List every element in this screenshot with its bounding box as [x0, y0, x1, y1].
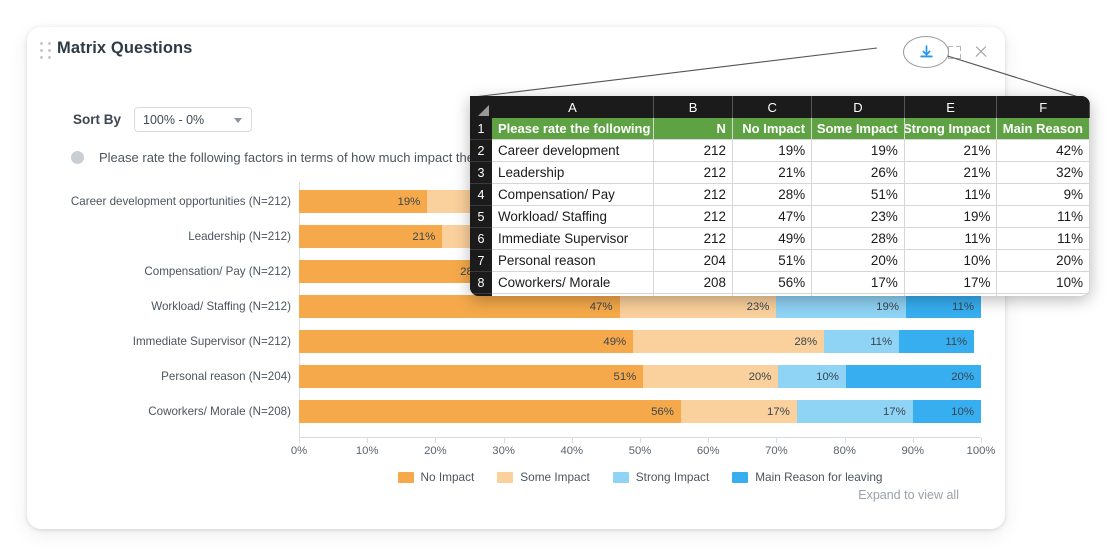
bar-row[interactable]: 51%20%10%20% — [299, 365, 981, 388]
x-tick — [504, 438, 505, 443]
spreadsheet-cell[interactable]: Leadership — [492, 162, 654, 183]
row-number[interactable]: 9 — [470, 294, 492, 296]
table-row[interactable]: Career development21219%19%21%42% — [492, 140, 1090, 162]
spreadsheet-cell[interactable]: Main Reason — [997, 118, 1090, 139]
spreadsheet-cell[interactable] — [905, 294, 998, 296]
spreadsheet-cell[interactable]: 49% — [733, 228, 812, 249]
spreadsheet-cell[interactable]: 10% — [997, 272, 1090, 293]
spreadsheet-cell[interactable] — [997, 294, 1090, 296]
table-row[interactable]: Compensation/ Pay21228%51%11%9% — [492, 184, 1090, 206]
bar-segment: 23% — [620, 295, 777, 318]
category-label: Career development opportunities (N=212) — [27, 190, 299, 213]
table-row[interactable] — [492, 294, 1090, 296]
spreadsheet-cell[interactable]: 208 — [654, 272, 733, 293]
bar-segment: 17% — [797, 400, 913, 423]
x-tick-label: 20% — [424, 445, 447, 457]
chevron-down-icon — [234, 118, 242, 123]
spreadsheet-cell[interactable]: 204 — [654, 250, 733, 271]
spreadsheet-cell[interactable]: 17% — [905, 272, 998, 293]
spreadsheet-grid: Please rate the followingNNo ImpactSome … — [492, 118, 1090, 296]
x-tick-label: 50% — [629, 445, 652, 457]
spreadsheet-cell[interactable]: 51% — [812, 184, 905, 205]
spreadsheet-cell[interactable]: 21% — [905, 162, 998, 183]
legend-item[interactable]: Strong Impact — [613, 470, 709, 484]
spreadsheet-cell[interactable]: Workload/ Staffing — [492, 206, 654, 227]
page-title: Matrix Questions — [57, 39, 192, 58]
spreadsheet-cell[interactable]: 212 — [654, 228, 733, 249]
expand-to-view-all-link[interactable]: Expand to view all — [858, 488, 959, 502]
bar-row[interactable]: 47%23%19%11% — [299, 295, 981, 318]
column-header[interactable]: B — [654, 96, 733, 118]
x-tick — [435, 438, 436, 443]
spreadsheet-cell[interactable]: 212 — [654, 162, 733, 183]
chart-legend: No ImpactSome ImpactStrong ImpactMain Re… — [299, 470, 981, 484]
x-tick-label: 100% — [967, 445, 996, 457]
x-tick-label: 30% — [492, 445, 515, 457]
spreadsheet-cell[interactable]: 11% — [997, 206, 1090, 227]
spreadsheet-cell[interactable]: 21% — [733, 162, 812, 183]
spreadsheet-cell[interactable]: 19% — [812, 140, 905, 161]
spreadsheet-cell[interactable]: No Impact — [733, 118, 812, 139]
category-label: Coworkers/ Morale (N=208) — [27, 400, 299, 423]
spreadsheet-cell[interactable] — [733, 294, 812, 296]
download-icon — [918, 44, 935, 61]
spreadsheet-cell[interactable]: 9% — [997, 184, 1090, 205]
spreadsheet-cell[interactable]: 11% — [905, 184, 998, 205]
bar-row[interactable]: 49%28%11%11% — [299, 330, 981, 353]
x-tick-label: 70% — [765, 445, 788, 457]
close-icon[interactable] — [973, 44, 989, 60]
spreadsheet-cell[interactable]: 212 — [654, 184, 733, 205]
spreadsheet-cell[interactable]: Personal reason — [492, 250, 654, 271]
category-label: Immediate Supervisor (N=212) — [27, 330, 299, 353]
bar-segment: 56% — [299, 400, 681, 423]
spreadsheet-cell[interactable]: 32% — [997, 162, 1090, 183]
spreadsheet-cell[interactable]: 56% — [733, 272, 812, 293]
spreadsheet-cell[interactable]: 26% — [812, 162, 905, 183]
x-tick — [572, 438, 573, 443]
spreadsheet-cell[interactable]: Please rate the following — [492, 118, 654, 139]
x-axis-ticks: 0%10%20%30%40%50%60%70%80%90%100% — [299, 438, 981, 460]
row-number[interactable]: 3 — [470, 162, 492, 184]
bar-segment: 10% — [778, 365, 846, 388]
card-controls — [948, 40, 989, 64]
x-tick — [367, 438, 368, 443]
bar-segment: 19% — [299, 190, 427, 213]
spreadsheet-cell[interactable]: Career development — [492, 140, 654, 161]
row-number[interactable]: 1 — [470, 118, 492, 140]
bar-segment: 47% — [299, 295, 620, 318]
select-all-corner-icon[interactable] — [470, 96, 492, 118]
table-row[interactable]: Coworkers/ Morale20856%17%17%10% — [492, 272, 1090, 294]
spreadsheet-cell[interactable]: 51% — [733, 250, 812, 271]
bar-segment: 20% — [846, 365, 981, 388]
legend-item[interactable]: No Impact — [398, 470, 475, 484]
spreadsheet-cell[interactable]: 47% — [733, 206, 812, 227]
sort-control: Sort By 100% - 0% — [73, 107, 252, 132]
bar-row[interactable]: 56%17%17%10% — [299, 400, 981, 423]
table-row[interactable]: Immediate Supervisor21249%28%11%11% — [492, 228, 1090, 250]
bar-segment: 11% — [899, 330, 974, 353]
spreadsheet-cell[interactable]: N — [654, 118, 733, 139]
bar-segment: 11% — [824, 330, 899, 353]
category-label: Personal reason (N=204) — [27, 365, 299, 388]
x-tick — [845, 438, 846, 443]
legend-item[interactable]: Main Reason for leaving — [732, 470, 882, 484]
bar-segment: 19% — [776, 295, 906, 318]
bar-segment: 51% — [299, 365, 643, 388]
x-tick — [640, 438, 641, 443]
category-label: Compensation/ Pay (N=212) — [27, 260, 299, 283]
column-header[interactable]: C — [733, 96, 812, 118]
spreadsheet-cell[interactable]: 23% — [812, 206, 905, 227]
bar-segment: 20% — [643, 365, 778, 388]
row-number[interactable]: 5 — [470, 206, 492, 228]
screenshot-root: Matrix Questions Sort By 100% - 0% — [0, 0, 1120, 556]
spreadsheet-overlay[interactable]: ABCDEF 123456789 Please rate the followi… — [470, 96, 1090, 296]
column-header[interactable]: A — [492, 96, 654, 118]
spreadsheet-cell[interactable]: Coworkers/ Morale — [492, 272, 654, 293]
spreadsheet-cell[interactable]: Immediate Supervisor — [492, 228, 654, 249]
spreadsheet-cell[interactable]: 19% — [905, 206, 998, 227]
spreadsheet-cell[interactable]: 20% — [812, 250, 905, 271]
x-tick — [299, 438, 300, 443]
spreadsheet-cell[interactable]: 17% — [812, 272, 905, 293]
spreadsheet-cell[interactable]: 212 — [654, 206, 733, 227]
bar-segment: 49% — [299, 330, 633, 353]
spreadsheet-cell[interactable]: Strong Impact — [905, 118, 998, 139]
spreadsheet-cell[interactable]: 19% — [733, 140, 812, 161]
x-tick-label: 10% — [356, 445, 379, 457]
table-row[interactable]: Leadership21221%26%21%32% — [492, 162, 1090, 184]
expand-icon[interactable] — [948, 46, 961, 59]
spreadsheet-cell[interactable] — [812, 294, 905, 296]
spreadsheet-header-row[interactable]: Please rate the followingNNo ImpactSome … — [492, 118, 1090, 140]
row-number[interactable]: 6 — [470, 228, 492, 250]
bullet-dot-icon — [71, 151, 84, 164]
legend-swatch — [732, 472, 748, 483]
spreadsheet-cell[interactable]: 11% — [997, 228, 1090, 249]
x-tick-label: 90% — [901, 445, 924, 457]
bar-segment: 17% — [681, 400, 797, 423]
row-number[interactable]: 2 — [470, 140, 492, 162]
spreadsheet-cell[interactable]: 10% — [905, 250, 998, 271]
spreadsheet-cell[interactable]: 28% — [812, 228, 905, 249]
table-row[interactable]: Workload/ Staffing21247%23%19%11% — [492, 206, 1090, 228]
spreadsheet-row-numbers: 123456789 — [470, 118, 492, 296]
spreadsheet-cell[interactable]: 42% — [997, 140, 1090, 161]
legend-label: Strong Impact — [636, 470, 709, 484]
bar-segment: 28% — [633, 330, 824, 353]
row-number[interactable]: 7 — [470, 250, 492, 272]
column-header[interactable]: E — [905, 96, 998, 118]
legend-label: Main Reason for leaving — [755, 470, 882, 484]
category-label: Leadership (N=212) — [27, 225, 299, 248]
table-row[interactable]: Personal reason20451%20%10%20% — [492, 250, 1090, 272]
row-number[interactable]: 4 — [470, 184, 492, 206]
legend-swatch — [613, 472, 629, 483]
spreadsheet-cell[interactable]: Some Impact — [812, 118, 905, 139]
legend-item[interactable]: Some Impact — [497, 470, 590, 484]
spreadsheet-cell[interactable] — [654, 294, 733, 296]
spreadsheet-column-headers: ABCDEF — [470, 96, 1090, 118]
spreadsheet-cell[interactable]: Compensation/ Pay — [492, 184, 654, 205]
sort-by-value: 100% - 0% — [143, 113, 204, 127]
spreadsheet-cell[interactable]: 21% — [905, 140, 998, 161]
x-tick — [913, 438, 914, 443]
legend-swatch — [497, 472, 513, 483]
spreadsheet-cell[interactable]: 212 — [654, 140, 733, 161]
spreadsheet-cell[interactable]: 11% — [905, 228, 998, 249]
x-tick — [708, 438, 709, 443]
sort-by-label: Sort By — [73, 112, 121, 127]
column-header[interactable]: D — [812, 96, 905, 118]
spreadsheet-cell[interactable] — [492, 294, 654, 296]
sort-by-select[interactable]: 100% - 0% — [134, 107, 252, 132]
x-tick — [981, 438, 982, 443]
spreadsheet-cell[interactable]: 20% — [997, 250, 1090, 271]
spreadsheet-cell[interactable]: 28% — [733, 184, 812, 205]
bar-segment: 11% — [906, 295, 981, 318]
legend-label: Some Impact — [520, 470, 590, 484]
download-button[interactable] — [903, 36, 949, 68]
legend-swatch — [398, 472, 414, 483]
x-tick-label: 0% — [291, 445, 307, 457]
bar-segment: 10% — [913, 400, 981, 423]
category-label: Workload/ Staffing (N=212) — [27, 295, 299, 318]
x-tick — [776, 438, 777, 443]
x-tick-label: 80% — [833, 445, 856, 457]
legend-label: No Impact — [421, 470, 475, 484]
x-tick-label: 60% — [697, 445, 720, 457]
drag-dots-icon[interactable] — [40, 41, 54, 61]
x-tick-label: 40% — [560, 445, 583, 457]
bar-segment: 21% — [299, 225, 442, 248]
row-number[interactable]: 8 — [470, 272, 492, 294]
column-header[interactable]: F — [997, 96, 1090, 118]
bar-segment: 28% — [299, 260, 490, 283]
